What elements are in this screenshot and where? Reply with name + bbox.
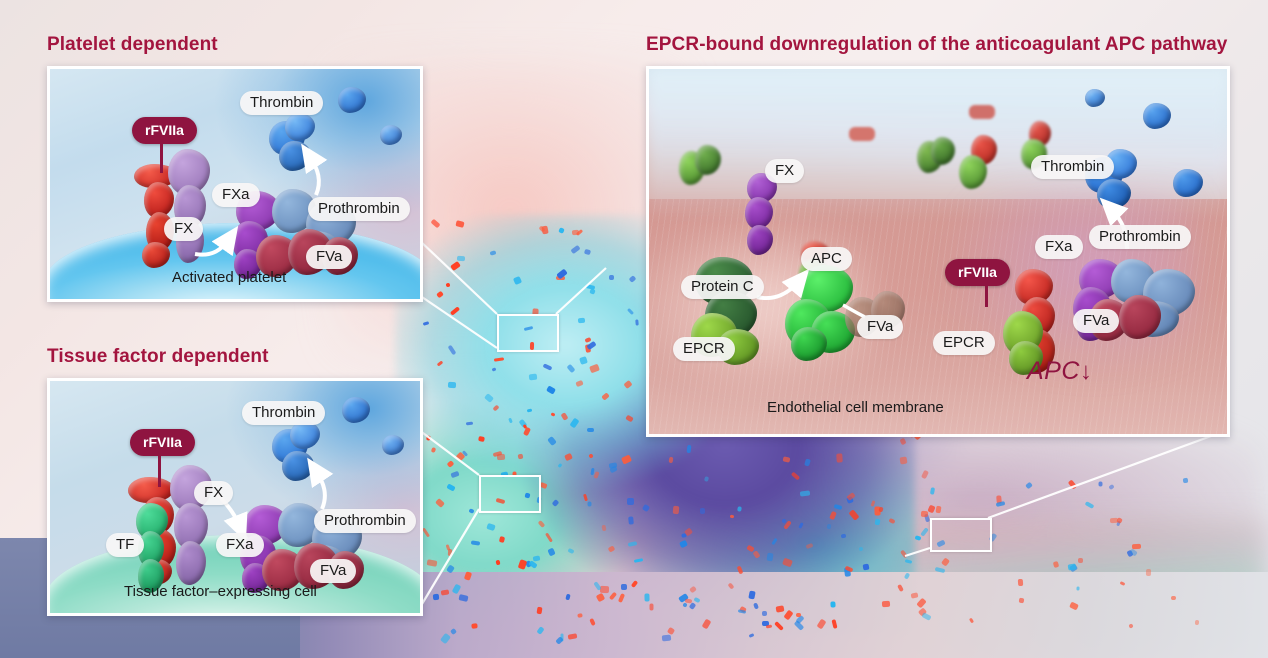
molecule-speck <box>673 506 680 514</box>
molecule-speck <box>601 525 606 532</box>
molecule-speck <box>1132 544 1141 550</box>
molecule-speck <box>882 601 890 608</box>
molecule-speck <box>433 594 440 601</box>
molecule-speck <box>627 498 634 505</box>
label-thrombin-platelet: Thrombin <box>240 91 323 115</box>
thrombin-protein-platelet <box>265 111 321 171</box>
molecule-speck <box>600 586 609 593</box>
molecule-speck <box>662 635 672 642</box>
molecule-speck <box>1110 518 1118 523</box>
molecule-speck <box>457 256 465 261</box>
background-peptide-a <box>849 127 875 141</box>
molecule-speck <box>762 611 767 616</box>
panel-platelet-dependent: rFVIIa Thrombin FX FXa Prothrombin FVa A… <box>47 66 423 302</box>
molecule-speck <box>650 604 654 611</box>
label-fva-platelet: FVa <box>306 245 352 269</box>
figure-root: Platelet dependent <box>0 0 1268 658</box>
label-fxa-platelet: FXa <box>212 183 260 207</box>
apc-annotation-text: APC <box>1027 357 1080 385</box>
molecule-speck <box>478 436 485 442</box>
panel-tissue-factor-dependent: rFVIIa Thrombin FX TF FXa Prothrombin FV… <box>47 378 423 616</box>
molecule-speck <box>578 318 585 324</box>
label-prothrombin-epcr: Prothrombin <box>1089 225 1191 249</box>
molecule-speck <box>899 456 907 464</box>
label-fx-platelet: FX <box>164 217 203 241</box>
molecule-speck <box>628 516 634 524</box>
caption-activated-platelet: Activated platelet <box>172 269 286 286</box>
molecule-speck <box>700 508 705 514</box>
thrombin-speck-tf-b <box>382 435 404 455</box>
badge-stem-rfviia-epcr <box>985 285 988 307</box>
caption-tissue-factor-cell: Tissue factor–expressing cell <box>124 583 317 600</box>
molecule-speck <box>635 319 639 325</box>
molecule-speck <box>448 549 453 556</box>
label-fxa-epcr: FXa <box>1035 235 1083 259</box>
thrombin-speck-a <box>338 87 366 113</box>
label-epcr-right: EPCR <box>933 331 995 355</box>
thrombin-speck-epcr-a <box>1143 103 1171 129</box>
badge-stem-rfviia-tf <box>158 455 161 487</box>
zoom-box-endothelial[interactable] <box>930 518 992 552</box>
molecule-speck <box>1146 569 1151 576</box>
badge-rfviia-epcr: rFVIIa <box>945 259 1010 286</box>
thrombin-speck-epcr-c <box>1085 89 1105 107</box>
label-tf-tf: TF <box>106 533 144 557</box>
molecule-speck <box>863 564 870 571</box>
molecule-speck <box>796 613 801 617</box>
apc-downregulation-annotation: APC↓ <box>1027 357 1092 386</box>
badge-stem-rfviia-platelet <box>160 143 163 173</box>
thrombin-speck-tf-a <box>342 397 370 423</box>
molecule-speck <box>1018 579 1023 586</box>
fx-protein-epcr <box>743 173 783 257</box>
label-prothrombin-tf: Prothrombin <box>314 509 416 533</box>
label-fva-tf: FVa <box>310 559 356 583</box>
molecule-speck <box>448 382 456 388</box>
zoom-box-tissue-factor[interactable] <box>479 475 541 513</box>
molecule-speck <box>1076 586 1079 590</box>
thrombin-speck-b <box>380 125 402 145</box>
molecule-speck <box>621 584 627 590</box>
panel-title-tissue-factor: Tissue factor dependent <box>47 346 269 368</box>
molecule-speck <box>1078 558 1083 563</box>
molecule-speck <box>587 428 594 432</box>
panel-title-platelet: Platelet dependent <box>47 34 218 56</box>
label-fva-epcr-right: FVa <box>1073 309 1119 333</box>
label-fx-tf: FX <box>194 481 233 505</box>
molecule-speck <box>529 374 538 381</box>
molecule-speck <box>1171 596 1176 600</box>
molecule-speck <box>1183 478 1189 484</box>
thrombin-speck-epcr-b <box>1173 169 1203 197</box>
molecule-speck <box>471 623 477 629</box>
caption-endothelial-membrane: Endothelial cell membrane <box>767 399 944 416</box>
badge-rfviia-platelet: rFVIIa <box>132 117 197 144</box>
background-peptide-b <box>969 105 995 119</box>
molecule-speck <box>609 275 614 280</box>
molecule-speck <box>644 593 649 601</box>
badge-rfviia-tf: rFVIIa <box>130 429 195 456</box>
label-fx-epcr: FX <box>765 159 804 183</box>
fx-protein-platelet <box>162 149 214 265</box>
down-arrow-icon: ↓ <box>1080 358 1093 385</box>
zoom-box-platelet[interactable] <box>497 314 559 352</box>
label-prothrombin-platelet: Prothrombin <box>308 197 410 221</box>
thrombin-protein-tf <box>268 419 326 481</box>
label-protein-c: Protein C <box>681 275 764 299</box>
label-fva-epcr-left: FVa <box>857 315 903 339</box>
panel-title-epcr: EPCR-bound downregulation of the anticoa… <box>646 34 1227 56</box>
molecule-speck <box>1099 482 1103 487</box>
molecule-speck <box>830 601 835 607</box>
molecule-speck <box>921 511 928 517</box>
molecule-speck <box>588 502 592 507</box>
label-thrombin-epcr: Thrombin <box>1031 155 1114 179</box>
label-epcr-left: EPCR <box>673 337 735 361</box>
label-thrombin-tf: Thrombin <box>242 401 325 425</box>
background-protein-green-b <box>917 137 957 177</box>
label-apc: APC <box>801 247 852 271</box>
label-fxa-tf: FXa <box>216 533 264 557</box>
background-rfviia-epcr-far <box>957 135 1003 193</box>
background-protein-green-a <box>679 145 723 189</box>
panel-epcr-downregulation: FX APC Protein C EPCR FVa rFVIIa EPCR Th… <box>646 66 1230 437</box>
molecule-speck <box>836 453 843 462</box>
